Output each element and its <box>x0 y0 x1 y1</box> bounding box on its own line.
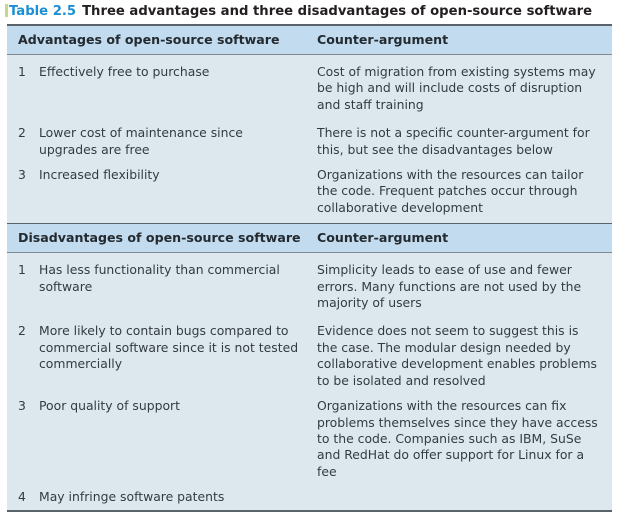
table-body: Advantages of open-source software Count… <box>7 26 612 510</box>
row-spacer <box>7 113 612 120</box>
row-item-text: Lower cost of maintenance since upgrades… <box>39 125 304 158</box>
counter-argument-text: Organizations with the resources can fix… <box>312 398 612 480</box>
table-row: 1 Has less functionality than commercial… <box>7 257 612 311</box>
counter-argument-text: Simplicity leads to ease of use and fewe… <box>312 262 612 311</box>
advantage-item-2: 2 Lower cost of maintenance since upgrad… <box>7 125 312 158</box>
row-spacer <box>7 216 612 223</box>
disadvantage-item-1: 1 Has less functionality than commercial… <box>7 262 312 295</box>
row-item-text: Increased flexibility <box>39 167 304 183</box>
row-item-text: More likely to contain bugs compared to … <box>39 323 304 372</box>
table-header-row-disadvantages: Disadvantages of open-source software Co… <box>7 223 612 253</box>
row-number: 1 <box>18 262 39 295</box>
row-number: 4 <box>18 489 39 505</box>
row-item-text: Effectively free to purchase <box>39 64 304 80</box>
disadvantage-item-2: 2 More likely to contain bugs compared t… <box>7 323 312 372</box>
header-cell-counter-argument-1: Counter-argument <box>312 32 612 48</box>
header-cell-counter-argument-2: Counter-argument <box>312 230 612 246</box>
advantage-item-3: 3 Increased flexibility <box>7 167 312 183</box>
table-row: 3 Poor quality of support Organizations … <box>7 393 612 480</box>
counter-argument-text: Evidence does not seem to suggest this i… <box>312 323 612 389</box>
table-row: 2 More likely to contain bugs compared t… <box>7 318 612 389</box>
header-cell-disadvantages: Disadvantages of open-source software <box>7 230 312 246</box>
row-item-text: Has less functionality than commercial s… <box>39 262 304 295</box>
header-cell-advantages: Advantages of open-source software <box>7 32 312 48</box>
row-number: 3 <box>18 398 39 414</box>
advantage-item-1: 1 Effectively free to purchase <box>7 64 312 80</box>
table-header-row-advantages: Advantages of open-source software Count… <box>7 26 612 55</box>
disadvantage-item-4: 4 May infringe software patents <box>7 489 312 505</box>
counter-argument-text: Cost of migration from existing systems … <box>312 64 612 113</box>
caption-number: Table 2.5 <box>9 4 76 19</box>
row-spacer <box>7 311 612 318</box>
row-number: 3 <box>18 167 39 183</box>
table-figure: Table 2.5Three advantages and three disa… <box>0 0 624 426</box>
row-item-text: May infringe software patents <box>39 489 304 505</box>
counter-argument-text: There is not a specific counter-argument… <box>312 125 612 158</box>
table-caption: Table 2.5Three advantages and three disa… <box>5 3 619 22</box>
row-number: 2 <box>18 125 39 158</box>
caption-accent-mark <box>5 4 8 17</box>
table-row: 3 Increased flexibility Organizations wi… <box>7 162 612 216</box>
row-spacer <box>7 506 612 510</box>
caption-title: Three advantages and three disadvantages… <box>82 4 592 19</box>
row-number: 1 <box>18 64 39 80</box>
disadvantage-item-3: 3 Poor quality of support <box>7 398 312 414</box>
counter-argument-text: Organizations with the resources can tai… <box>312 167 612 216</box>
row-item-text: Poor quality of support <box>39 398 304 414</box>
table-row: 1 Effectively free to purchase Cost of m… <box>7 59 612 113</box>
comparison-table: Advantages of open-source software Count… <box>7 24 612 512</box>
table-row: 2 Lower cost of maintenance since upgrad… <box>7 120 612 158</box>
row-number: 2 <box>18 323 39 372</box>
table-row: 4 May infringe software patents <box>7 484 612 505</box>
